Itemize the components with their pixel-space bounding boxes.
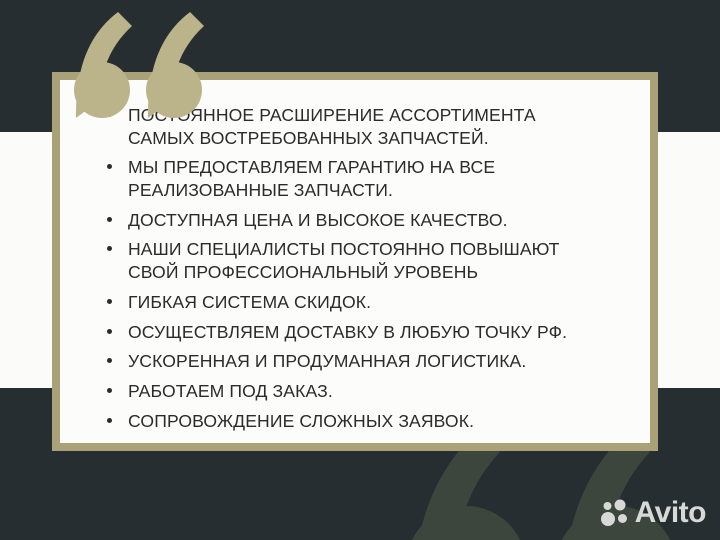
avito-dots-icon [601, 499, 629, 527]
list-item: МЫ ПРЕДОСТАВЛЯЕМ ГАРАНТИЮ НА ВСЕ РЕАЛИЗО… [104, 156, 620, 201]
list-item-label: НАШИ СПЕЦИАЛИСТЫ ПОСТОЯННО ПОВЫШАЮТ СВОЙ… [128, 239, 559, 282]
avito-wordmark: Avito [635, 498, 706, 528]
list-item-label: РАБОТАЕМ ПОД ЗАКАЗ. [128, 381, 333, 401]
list-item: ДОСТУПНАЯ ЦЕНА И ВЫСОКОЕ КАЧЕСТВО. [104, 209, 620, 232]
quote-card-inner: ПОСТОЯННОЕ РАСШИРЕНИЕ АССОРТИМЕНТА САМЫХ… [60, 80, 650, 443]
bullet-icon [107, 299, 112, 304]
list-item-label: ОСУЩЕСТВЛЯЕМ ДОСТАВКУ В ЛЮБУЮ ТОЧКУ РФ. [128, 322, 567, 342]
list-item-label: УСКОРЕННАЯ И ПРОДУМАННАЯ ЛОГИСТИКА. [128, 351, 526, 371]
list-item: СОПРОВОЖДЕНИЕ СЛОЖНЫХ ЗАЯВОК. [104, 410, 620, 433]
bullet-icon [107, 329, 112, 334]
list-item: УСКОРЕННАЯ И ПРОДУМАННАЯ ЛОГИСТИКА. [104, 350, 620, 373]
avito-watermark: Avito [601, 498, 706, 528]
list-item-label: МЫ ПРЕДОСТАВЛЯЕМ ГАРАНТИЮ НА ВСЕ РЕАЛИЗО… [128, 157, 495, 200]
bullet-icon [107, 418, 112, 423]
bullet-icon [107, 388, 112, 393]
benefits-list: ПОСТОЯННОЕ РАСШИРЕНИЕ АССОРТИМЕНТА САМЫХ… [104, 104, 620, 432]
bullet-icon [107, 246, 112, 251]
list-item-label: ГИБКАЯ СИСТЕМА СКИДОК. [128, 292, 371, 312]
list-item: ОСУЩЕСТВЛЯЕМ ДОСТАВКУ В ЛЮБУЮ ТОЧКУ РФ. [104, 321, 620, 344]
bullet-icon [107, 217, 112, 222]
list-item: НАШИ СПЕЦИАЛИСТЫ ПОСТОЯННО ПОВЫШАЮТ СВОЙ… [104, 238, 620, 283]
list-item-label: ДОСТУПНАЯ ЦЕНА И ВЫСОКОЕ КАЧЕСТВО. [128, 210, 508, 230]
list-item: ГИБКАЯ СИСТЕМА СКИДОК. [104, 291, 620, 314]
bullet-icon [107, 358, 112, 363]
quote-card: ПОСТОЯННОЕ РАСШИРЕНИЕ АССОРТИМЕНТА САМЫХ… [52, 72, 658, 451]
opening-quote-icon [74, 8, 206, 118]
list-item: РАБОТАЕМ ПОД ЗАКАЗ. [104, 380, 620, 403]
list-item-label: СОПРОВОЖДЕНИЕ СЛОЖНЫХ ЗАЯВОК. [128, 411, 474, 431]
poster-canvas: ПОСТОЯННОЕ РАСШИРЕНИЕ АССОРТИМЕНТА САМЫХ… [0, 0, 720, 540]
bullet-icon [107, 164, 112, 169]
